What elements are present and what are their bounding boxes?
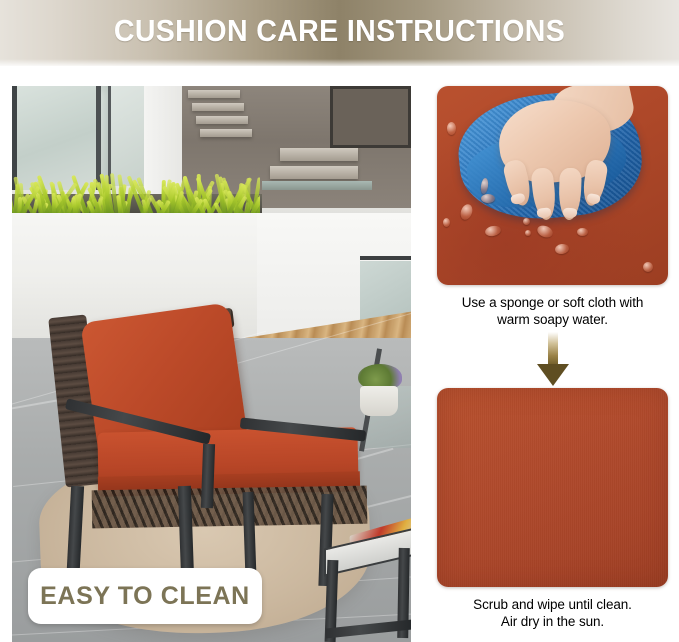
- stair-step: [200, 129, 252, 137]
- water-droplet: [443, 218, 450, 227]
- water-droplet: [481, 194, 495, 203]
- water-droplet: [643, 262, 653, 272]
- deck-glass-frame: [360, 256, 411, 260]
- stair-step: [270, 166, 358, 179]
- arrow-shaft: [548, 332, 558, 366]
- easy-to-clean-badge: EASY TO CLEAN: [28, 568, 262, 624]
- fingernail: [563, 208, 577, 218]
- step2-caption: Scrub and wipe until clean. Air dry in t…: [437, 596, 668, 630]
- step2-photo-clean-fabric: [437, 388, 668, 587]
- dark-window-panel: [330, 86, 411, 148]
- step1-caption-line1: Use a sponge or soft cloth with: [437, 294, 668, 311]
- patio-chair-photo: [12, 86, 411, 642]
- potted-plant-pot: [360, 386, 398, 416]
- water-droplet: [447, 122, 456, 135]
- glass-railing: [262, 181, 372, 190]
- step1-caption: Use a sponge or soft cloth with warm soa…: [437, 294, 668, 328]
- water-droplet: [459, 203, 475, 222]
- step1-photo-wipe-with-cloth: [437, 86, 668, 285]
- step2-caption-line2: Air dry in the sun.: [437, 613, 668, 630]
- easy-to-clean-label: EASY TO CLEAN: [40, 582, 250, 611]
- header-banner: CUSHION CARE INSTRUCTIONS: [0, 0, 679, 66]
- water-droplet: [525, 230, 531, 236]
- stair-step: [196, 116, 248, 124]
- step1-caption-line2: warm soapy water.: [437, 311, 668, 328]
- water-droplet: [523, 218, 530, 225]
- grass-blade: [104, 175, 109, 218]
- arrow-down-icon: [437, 332, 668, 388]
- water-droplet: [536, 223, 555, 239]
- stair-step: [188, 90, 240, 98]
- chair-arm-support: [201, 444, 215, 508]
- water-droplet: [484, 224, 502, 237]
- water-droplet: [554, 243, 569, 255]
- arrow-head: [537, 364, 569, 386]
- stair-step: [280, 148, 358, 161]
- stair-step: [192, 103, 244, 111]
- step2-caption-line1: Scrub and wipe until clean.: [437, 596, 668, 613]
- water-droplet: [577, 228, 588, 236]
- page-title: CUSHION CARE INSTRUCTIONS: [27, 11, 652, 51]
- planter-foliage: [12, 168, 260, 218]
- care-steps-column: Use a sponge or soft cloth with warm soa…: [437, 86, 668, 630]
